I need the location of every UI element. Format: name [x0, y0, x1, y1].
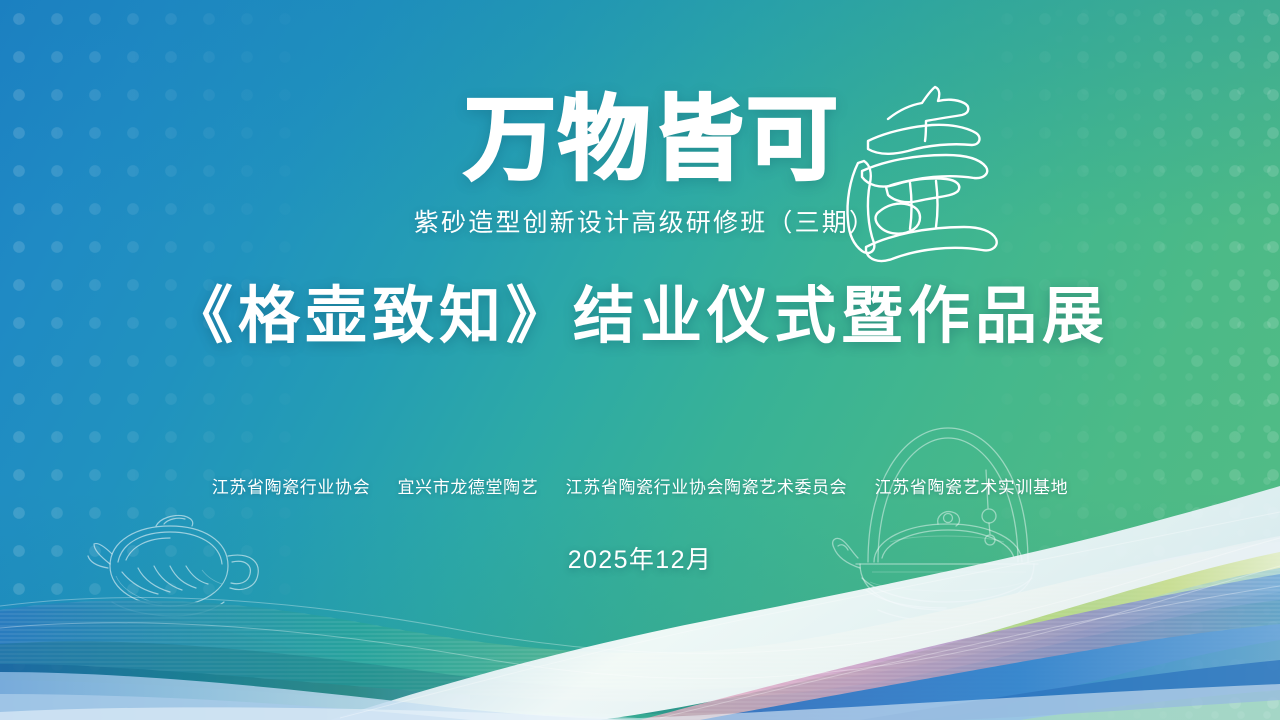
page-title: 万物皆可 — [440, 93, 840, 187]
brush-calligraphy-hu-icon — [822, 75, 1012, 275]
organizer-item: 江苏省陶瓷行业协会陶瓷艺术委员会 — [566, 478, 848, 497]
organizer-item: 江苏省陶瓷行业协会 — [212, 478, 370, 497]
organizer-item: 江苏省陶瓷艺术实训基地 — [875, 478, 1069, 497]
headline-row: 万物皆可 — [0, 93, 1280, 187]
poster-content: 万物皆可 — [0, 0, 1280, 720]
organizer-item: 宜兴市龙德堂陶艺 — [398, 478, 539, 497]
subtitle: 紫砂造型创新设计高级研修班（三期） — [404, 203, 876, 239]
organizer-list: 江苏省陶瓷行业协会 宜兴市龙德堂陶艺 江苏省陶瓷行业协会陶瓷艺术委员会 江苏省陶… — [0, 473, 1280, 498]
event-date: 2025年12月 — [0, 540, 1280, 576]
event-title: 《格壶致知》结业仪式暨作品展 — [171, 265, 1109, 355]
poster-canvas: 万物皆可 — [0, 0, 1280, 720]
